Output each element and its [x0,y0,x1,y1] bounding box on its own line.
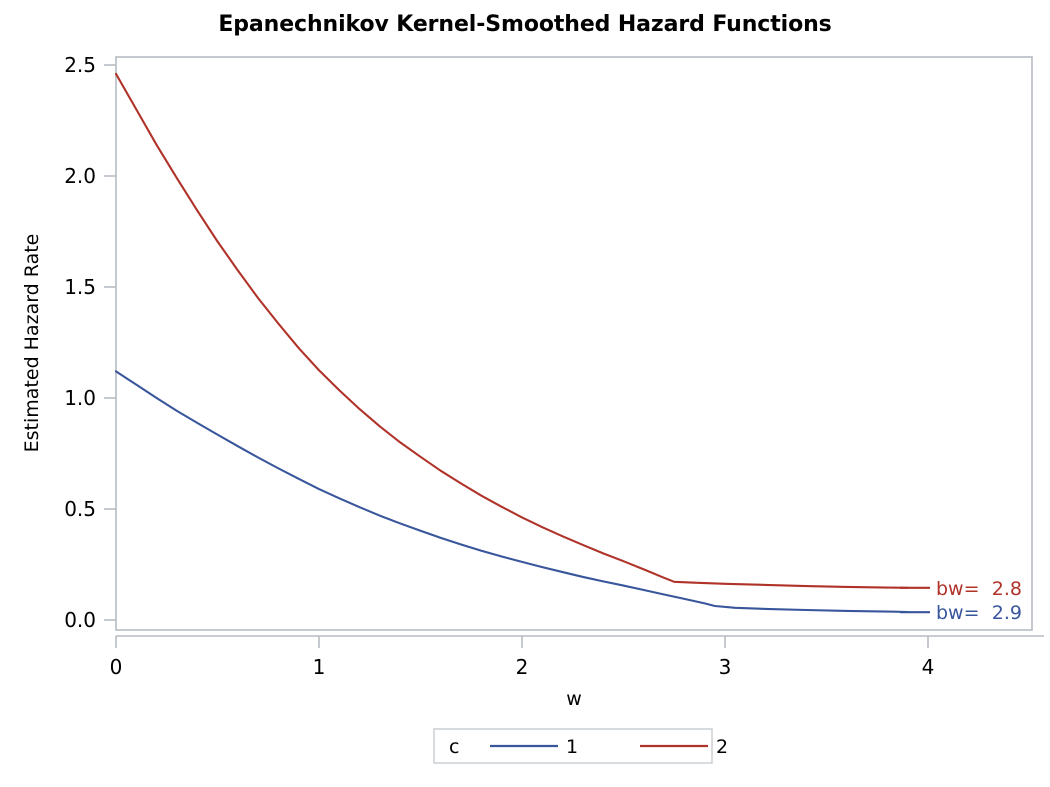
legend-label-2: 2 [716,736,728,758]
y-axis-tick-label: 1.0 [64,386,96,410]
chart-container: Epanechnikov Kernel-Smoothed Hazard Func… [0,0,1050,787]
x-axis: 01234 [110,636,1044,679]
annotation-bw-label: bw= [936,578,980,600]
chart-plot-area: 0.00.51.01.52.02.5 01234 Estimated Hazar… [0,0,1050,787]
y-axis-title: Estimated Hazard Rate [21,234,43,453]
x-axis-tick-label: 1 [313,655,326,679]
legend-title: c [449,736,459,758]
y-axis-tick-label: 2.0 [64,164,96,188]
y-axis-tick-label: 2.5 [64,53,96,77]
x-axis-tick-label: 4 [922,655,935,679]
plot-frame [116,57,1032,630]
legend-label-1: 1 [566,736,578,758]
x-axis-title: w [566,688,582,710]
y-axis-tick-label: 0.0 [64,608,96,632]
x-axis-tick-label: 3 [719,655,732,679]
y-axis-tick-label: 0.5 [64,497,96,521]
x-axis-tick-label: 2 [516,655,529,679]
chart-legend[interactable]: c 12 [434,729,728,763]
x-axis-tick-label: 0 [110,655,123,679]
annotation-bw-label: bw= [936,602,980,624]
y-axis-tick-label: 1.5 [64,275,96,299]
y-axis: 0.00.51.01.52.02.5 [64,53,116,632]
annotation-bw-value: 2.8 [992,578,1022,600]
annotation-bw-value: 2.9 [992,602,1022,624]
